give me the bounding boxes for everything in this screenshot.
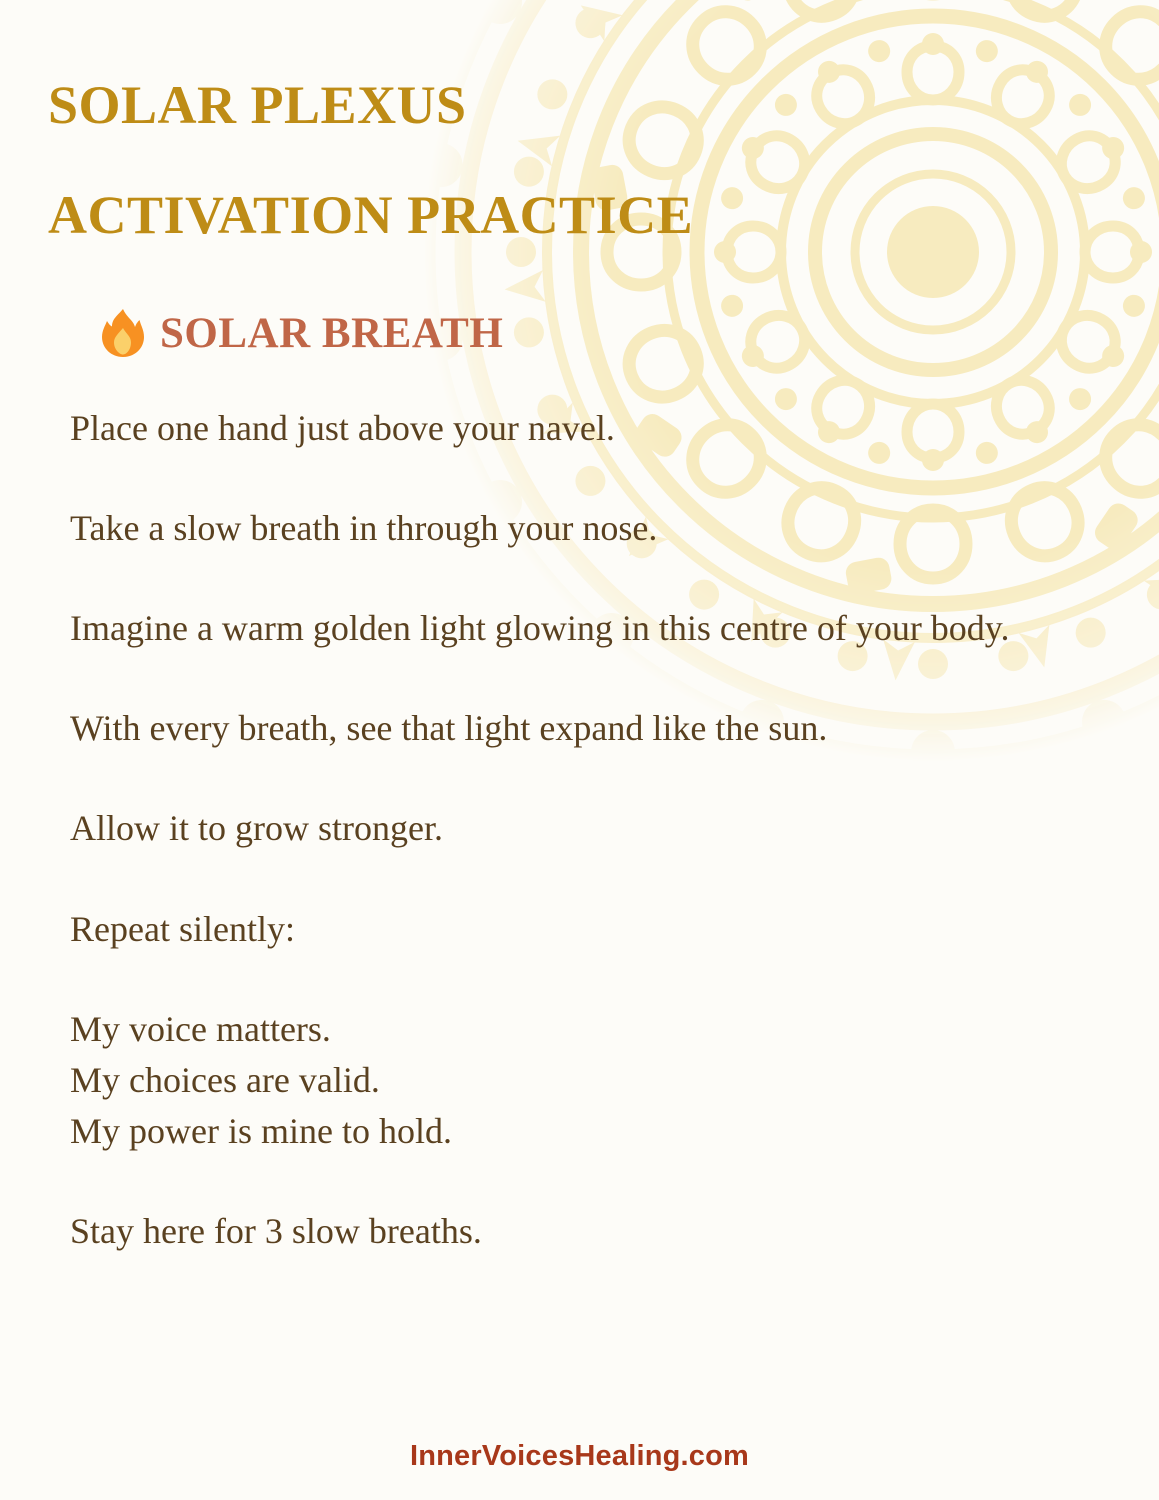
printable-worksheet-page: SOLAR PLEXUS ACTIVATION PRACTICE SOLAR B… <box>0 0 1159 1500</box>
instruction-paragraph: Allow it to grow stronger. <box>70 803 1075 854</box>
title-line-2: ACTIVATION PRACTICE <box>48 188 1048 242</box>
instruction-paragraph: Repeat silently: <box>70 904 1075 955</box>
fire-icon <box>100 308 146 358</box>
footer: InnerVoicesHealing.com <box>0 1440 1159 1473</box>
page-title: SOLAR PLEXUS ACTIVATION PRACTICE <box>48 78 1048 242</box>
affirmation-item: My choices are valid. <box>70 1055 1080 1106</box>
instruction-paragraph: With every breath, see that light expand… <box>70 703 1075 754</box>
instruction-paragraph: Place one hand just above your navel. <box>70 403 1075 454</box>
instruction-paragraph: Take a slow breath in through your nose. <box>70 503 1075 554</box>
instruction-paragraph: Imagine a warm golden light glowing in t… <box>70 603 1075 654</box>
section-heading-label: SOLAR BREATH <box>160 312 503 355</box>
closing-instruction: Stay here for 3 slow breaths. <box>70 1206 1075 1257</box>
affirmation-item: My voice matters. <box>70 1004 1080 1055</box>
practice-instructions: Place one hand just above your navel. Ta… <box>70 403 1080 1257</box>
title-line-1: SOLAR PLEXUS <box>48 78 1048 132</box>
affirmation-item: My power is mine to hold. <box>70 1106 1080 1157</box>
footer-website-label: InnerVoicesHealing.com <box>410 1440 749 1472</box>
affirmations-list: My voice matters. My choices are valid. … <box>70 1004 1080 1157</box>
section-heading-solar-breath: SOLAR BREATH <box>100 308 503 358</box>
